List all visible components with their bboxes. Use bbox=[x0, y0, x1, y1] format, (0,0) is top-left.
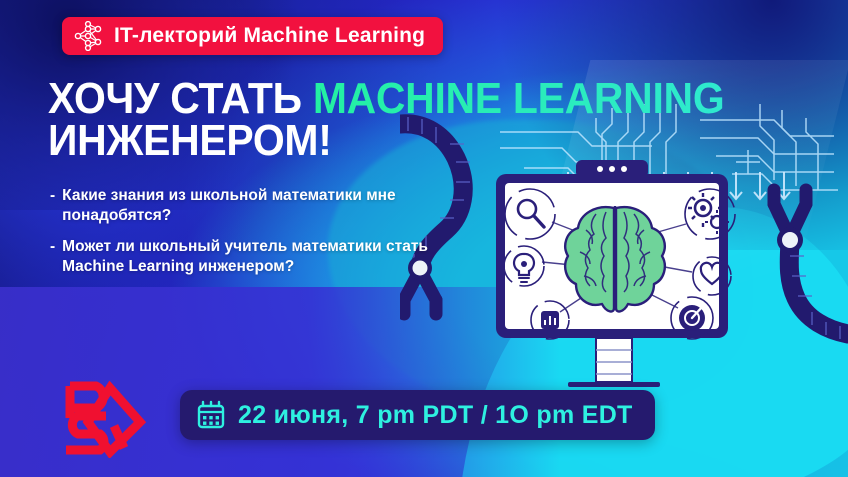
robot-arm-right bbox=[774, 190, 848, 339]
bullet-text: Какие знания из школьной математики мне … bbox=[62, 186, 480, 225]
event-date-bar[interactable]: 22 июня, 7 pm PDT / 1O pm EDT bbox=[180, 390, 655, 440]
list-item: - Какие знания из школьной математики мн… bbox=[50, 186, 480, 225]
lecture-series-badge[interactable]: IT-лекторий Machine Learning bbox=[62, 17, 443, 55]
headline-line2: ИНЖЕНЕРОМ! bbox=[48, 120, 606, 162]
event-date-text: 22 июня, 7 pm PDT / 1O pm EDT bbox=[238, 401, 633, 430]
badge-label: IT-лекторий Machine Learning bbox=[114, 24, 425, 48]
brain-icon bbox=[565, 206, 665, 311]
neural-network-icon bbox=[74, 21, 104, 51]
pasv-logo[interactable] bbox=[48, 378, 160, 458]
promo-poster: IT-лекторий Machine Learning ХОЧУ СТАТЬ … bbox=[0, 0, 848, 477]
page-title: ХОЧУ СТАТЬ MACHINE LEARNING ИНЖЕНЕРОМ! bbox=[48, 78, 606, 162]
bullet-text: Может ли школьный учитель математики ста… bbox=[62, 237, 480, 276]
bullet-dash: - bbox=[50, 237, 55, 276]
question-list: - Какие знания из школьной математики мн… bbox=[50, 186, 480, 288]
calendar-icon bbox=[196, 400, 226, 430]
headline-line1-accent: MACHINE LEARNING bbox=[313, 74, 725, 123]
bullet-dash: - bbox=[50, 186, 55, 225]
list-item: - Может ли школьный учитель математики с… bbox=[50, 237, 480, 276]
